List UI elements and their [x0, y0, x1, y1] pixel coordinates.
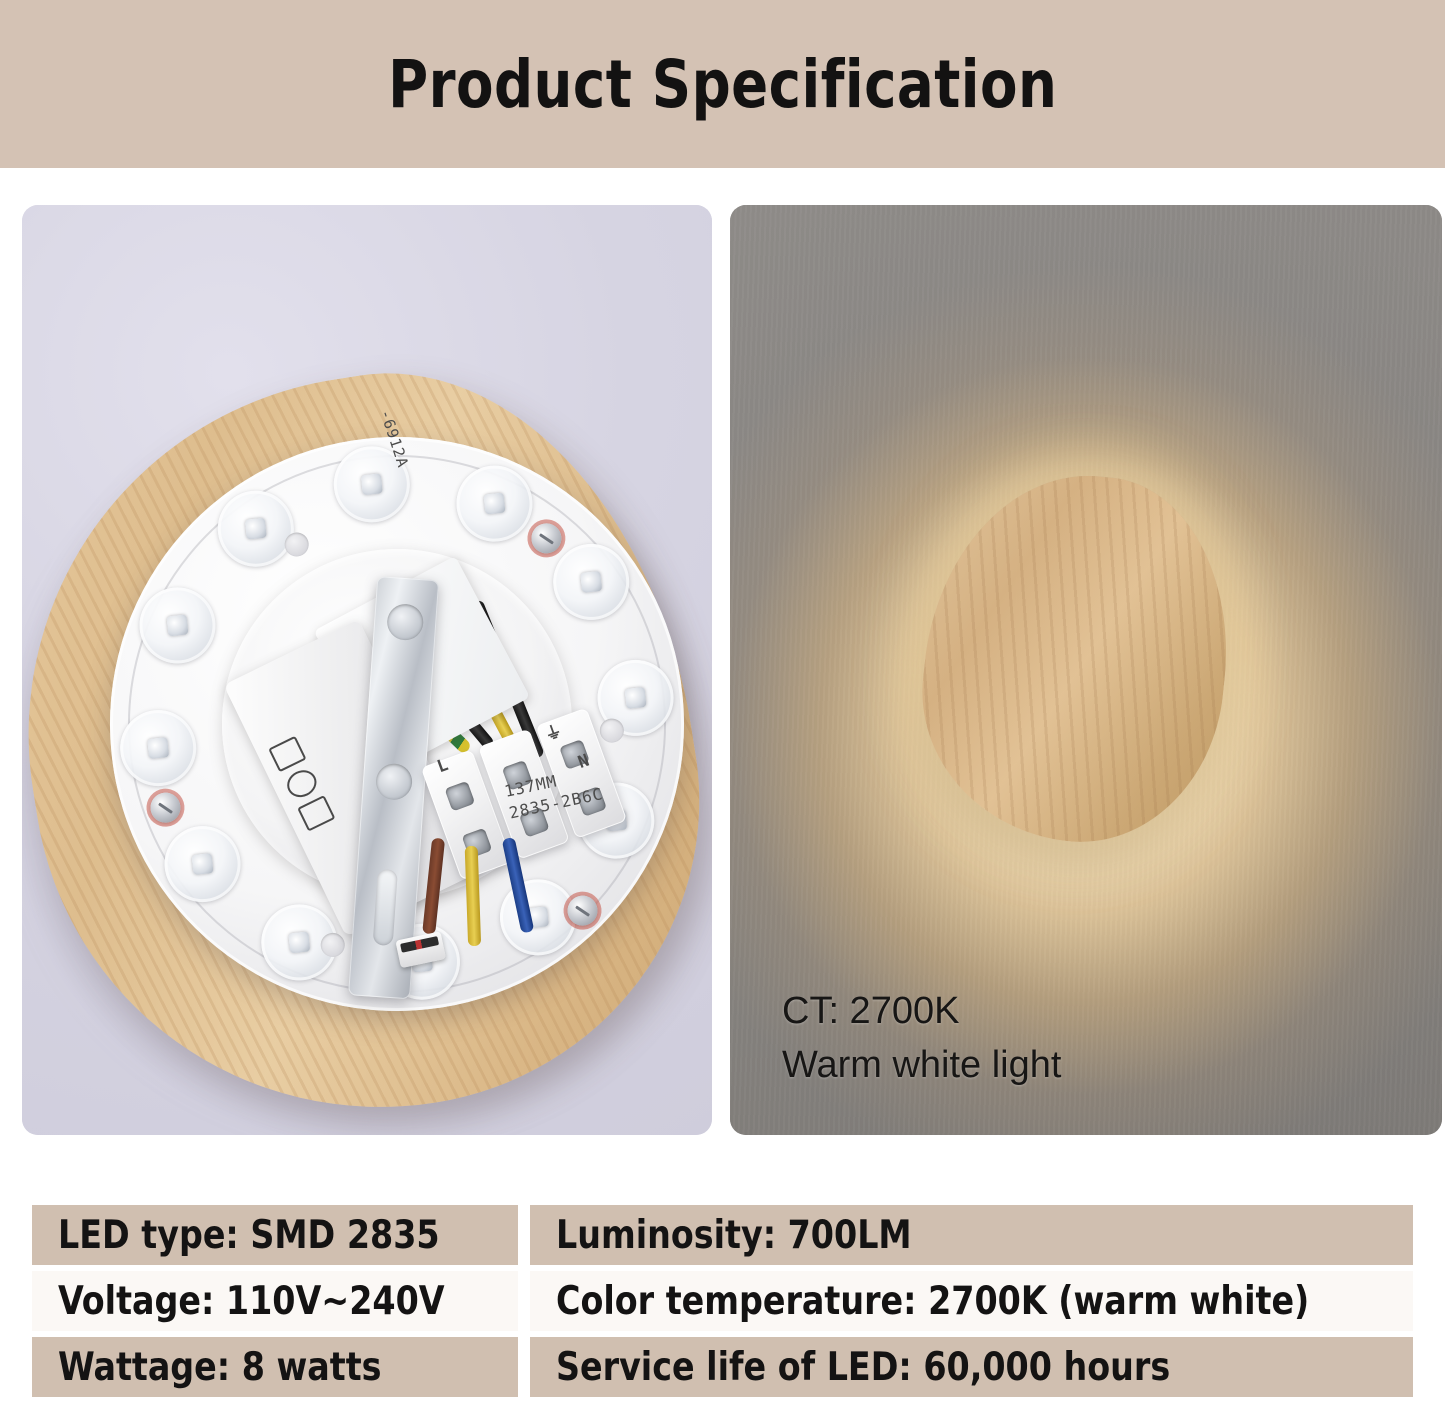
spec-cell-voltage: Voltage: 110V~240V: [32, 1271, 518, 1331]
spec-cell-color-temperature: Color temperature: 2700K (warm white): [530, 1271, 1413, 1331]
spec-text: Service life of LED: 60,000 hours: [556, 1345, 1170, 1390]
terminal-port: [444, 781, 475, 812]
spec-text: Voltage: 110V~240V: [58, 1279, 445, 1324]
spec-row: Voltage: 110V~240V Color temperature: 27…: [32, 1271, 1413, 1331]
spec-text: Wattage: 8 watts: [58, 1345, 382, 1390]
spec-cell-led-type: LED type: SMD 2835: [32, 1205, 518, 1265]
spec-cell-luminosity: Luminosity: 700LM: [530, 1205, 1413, 1265]
spec-text: Color temperature: 2700K (warm white): [556, 1279, 1309, 1324]
spec-text: LED type: SMD 2835: [58, 1213, 440, 1258]
product-image-panels: L ⏚ N -6912A 137MM 2835-2B6C CT: 2700K W…: [0, 205, 1445, 1135]
specification-table: LED type: SMD 2835 Luminosity: 700LM Vol…: [32, 1205, 1413, 1401]
ct-value-text: CT: 2700K: [782, 985, 1061, 1039]
page-title: Product Specification: [388, 46, 1057, 123]
spec-row: Wattage: 8 watts Service life of LED: 60…: [32, 1337, 1413, 1397]
page-header: Product Specification: [0, 0, 1445, 168]
ct-description-text: Warm white light: [782, 1039, 1061, 1093]
spec-row: LED type: SMD 2835 Luminosity: 700LM: [32, 1205, 1413, 1265]
spec-cell-wattage: Wattage: 8 watts: [32, 1337, 518, 1397]
bracket-hole: [386, 603, 424, 641]
bracket-slot: [373, 869, 398, 946]
spec-text: Luminosity: 700LM: [556, 1213, 912, 1258]
led-module-photo-panel: L ⏚ N -6912A 137MM 2835-2B6C: [22, 205, 712, 1135]
color-temperature-caption: CT: 2700K Warm white light: [782, 985, 1061, 1093]
spec-cell-service-life: Service life of LED: 60,000 hours: [530, 1337, 1413, 1397]
wall-lamp-glow-panel: CT: 2700K Warm white light: [730, 205, 1442, 1135]
bracket-hole: [375, 763, 413, 801]
